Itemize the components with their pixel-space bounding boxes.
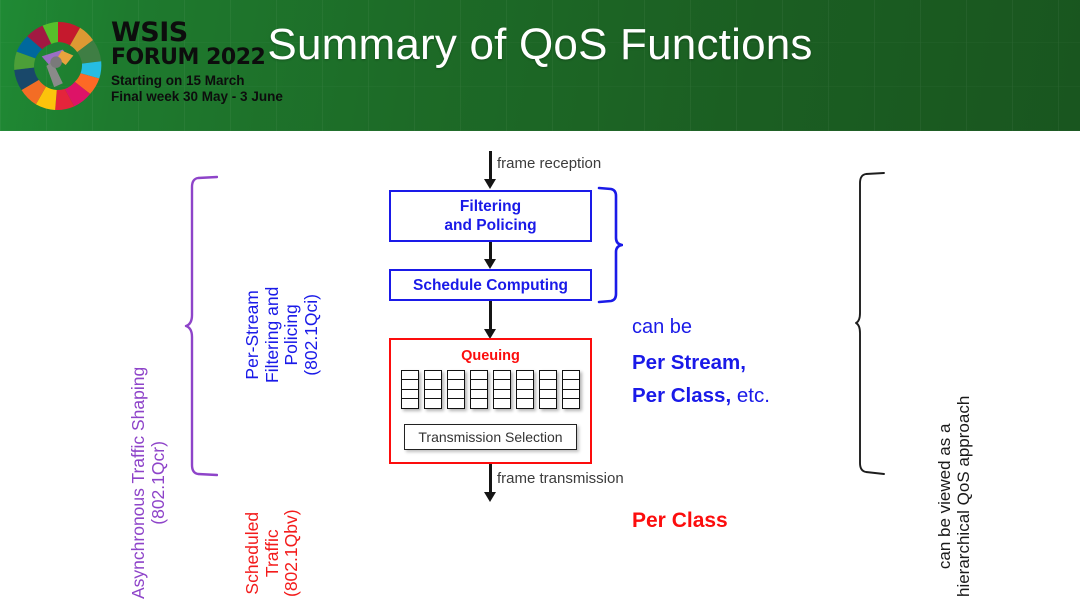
box-filtering-and-policing[interactable]: Filteringand Policing — [389, 190, 592, 242]
queue-column — [424, 370, 442, 409]
queue-cell — [424, 398, 442, 409]
arrow-filter-to-schedule-head — [484, 259, 496, 269]
per-stream-brace — [597, 186, 623, 304]
queue-column — [562, 370, 580, 409]
wsis-line-4: Final week 30 May - 3 June — [111, 89, 283, 105]
frame-reception-label: frame reception — [497, 155, 601, 172]
label-per-stream-filtering-policing: Per-StreamFiltering andPolicing(802.1Qci… — [243, 287, 321, 383]
queue-cell — [470, 398, 488, 409]
annotation-per-class-bold: Per Class, — [632, 384, 731, 407]
annotation-per-class-etc: Per Class, etc. — [632, 384, 770, 408]
hierarchical-brace — [855, 171, 885, 477]
slide-footer: www.wsis.org/forum IEEE TSN. Time-Sensit… — [0, 540, 1080, 608]
box-filtering-label: Filteringand Policing — [444, 197, 536, 235]
frame-transmission-label: frame transmission — [497, 470, 624, 487]
box-queuing[interactable]: Queuing Transmission Selection — [389, 338, 592, 464]
queue-cell — [562, 398, 580, 409]
annotation-can-be: can be — [632, 316, 692, 339]
queue-cell — [447, 398, 465, 409]
queue-column — [401, 370, 419, 409]
queue-set — [391, 370, 590, 409]
wsis-line-3: Starting on 15 March — [111, 73, 283, 89]
queue-cell — [401, 398, 419, 409]
slide-body: Asynchronous Traffic Shaping(802.1Qcr) P… — [0, 131, 1080, 608]
slide-header: WSIS FORUM 2022 Starting on 15 March Fin… — [0, 0, 1080, 131]
ats-brace — [184, 175, 218, 477]
annotation-per-class-red: Per Class — [632, 509, 728, 533]
slide-root: WSIS FORUM 2022 Starting on 15 March Fin… — [0, 0, 1080, 608]
queuing-title: Queuing — [391, 348, 590, 364]
queue-column — [470, 370, 488, 409]
transmission-selection-label: Transmission Selection — [418, 429, 562, 445]
arrow-reception-head — [484, 179, 496, 189]
queue-column — [447, 370, 465, 409]
box-schedule-label: Schedule Computing — [413, 276, 568, 295]
page-title: Summary of QoS Functions — [0, 20, 1080, 70]
queue-cell — [539, 398, 557, 409]
queue-cell — [493, 398, 511, 409]
queue-column — [493, 370, 511, 409]
annotation-per-stream: Per Stream, — [632, 351, 746, 375]
queue-column — [539, 370, 557, 409]
queue-cell — [516, 398, 534, 409]
transmission-selection-box[interactable]: Transmission Selection — [404, 424, 577, 450]
annotation-etc: etc. — [731, 384, 770, 407]
queue-column — [516, 370, 534, 409]
box-schedule-computing[interactable]: Schedule Computing — [389, 269, 592, 301]
arrow-transmission-head — [484, 492, 496, 502]
